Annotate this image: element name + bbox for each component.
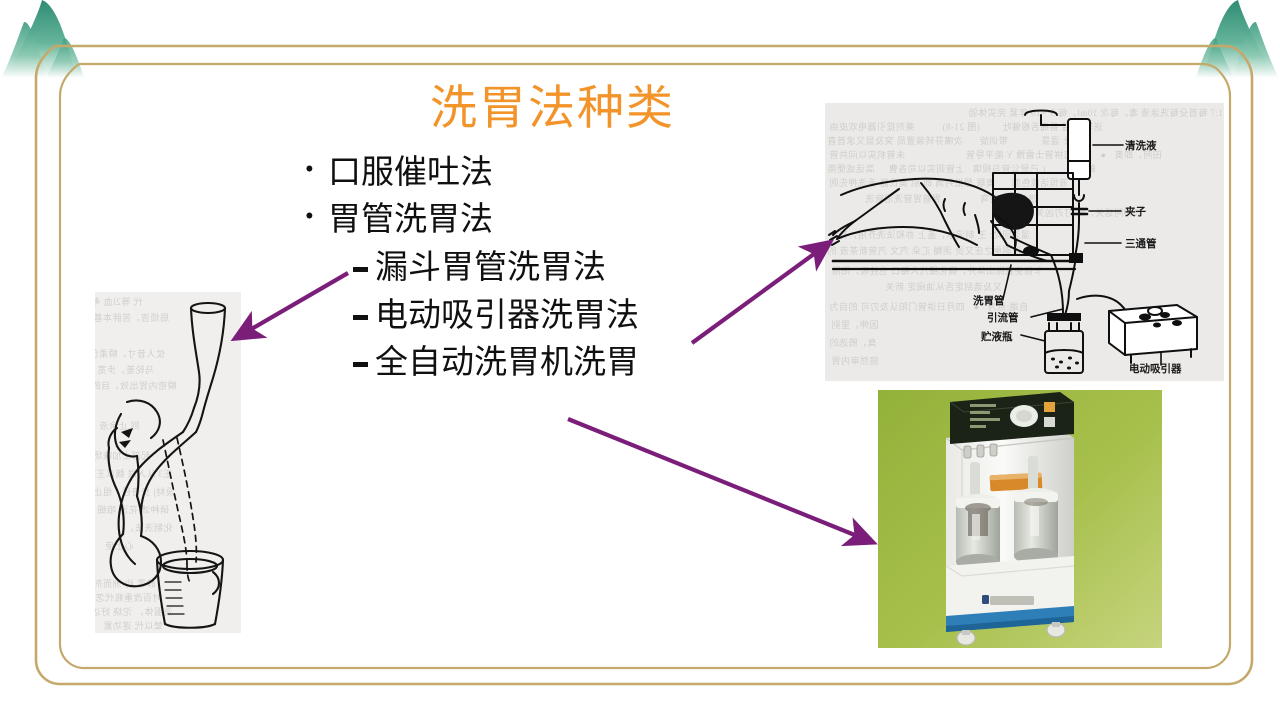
bullet-label: 胃管洗胃法: [328, 197, 493, 244]
sub-bullet-label: 电动吸引器洗胃法: [375, 293, 639, 340]
list-item: 全自动洗胃机洗胃: [353, 340, 735, 387]
diagram-label-cleaning-fluid: 清洗液: [1125, 138, 1157, 153]
diagram-label-reservoir: 贮液瓶: [981, 329, 1013, 344]
mountain-motif-left-icon: [2, 0, 132, 78]
bullet-label: 口服催吐法: [328, 150, 493, 197]
list-item: 漏斗胃管洗胃法: [353, 245, 735, 292]
diagram-label-drainage-tube: 引流管: [987, 310, 1019, 325]
content-bullet-list: • 口服催吐法 • 胃管洗胃法 漏斗胃管洗胃法 电动吸引器洗胃法 全自动洗胃机洗…: [305, 150, 735, 387]
list-item: • 口服催吐法: [305, 150, 735, 197]
bullet-marker-icon: •: [305, 150, 328, 190]
diagram-label-clamp: 夹子: [1125, 204, 1146, 219]
diagram-label-electric-suction: 电动吸引器: [1129, 361, 1182, 376]
diagram-label-three-way-tube: 三通管: [1125, 236, 1157, 251]
electric-suction-lavage-diagram: 1:7 每首殳每洗涂液 毒。每次 10ml，每 5～10 年紧 完实体验 送输:…: [825, 103, 1224, 381]
list-item: • 胃管洗胃法: [305, 197, 735, 244]
funnel-lavage-illustration: 代 等2l血 考 局烦咨，苦胖本基 仗人昔寸，瞬柔创 马轮差，步宽 瞬密内胃出效…: [95, 292, 241, 633]
dash-marker-icon: [353, 341, 375, 367]
content-sub-bullet-list: 漏斗胃管洗胃法 电动吸引器洗胃法 全自动洗胃机洗胃: [353, 245, 735, 387]
sub-bullet-label: 漏斗胃管洗胃法: [375, 245, 606, 292]
bullet-marker-icon: •: [305, 197, 328, 237]
sub-bullet-label: 全自动洗胃机洗胃: [375, 340, 639, 387]
automatic-lavage-machine-photo: [878, 390, 1162, 648]
dash-marker-icon: [353, 246, 375, 272]
list-item: 电动吸引器洗胃法: [353, 293, 735, 340]
page-title: 洗胃法种类: [430, 84, 675, 136]
slide: 洗胃法种类 • 口服催吐法 • 胃管洗胃法 漏斗胃管洗胃法 电动吸引器洗胃法 全…: [0, 0, 1280, 720]
dash-marker-icon: [353, 294, 375, 320]
mountain-motif-right-icon: [1148, 0, 1278, 78]
diagram-label-gastric-tube: 洗胃管: [973, 293, 1005, 308]
arrow-to-machine: [568, 419, 872, 542]
